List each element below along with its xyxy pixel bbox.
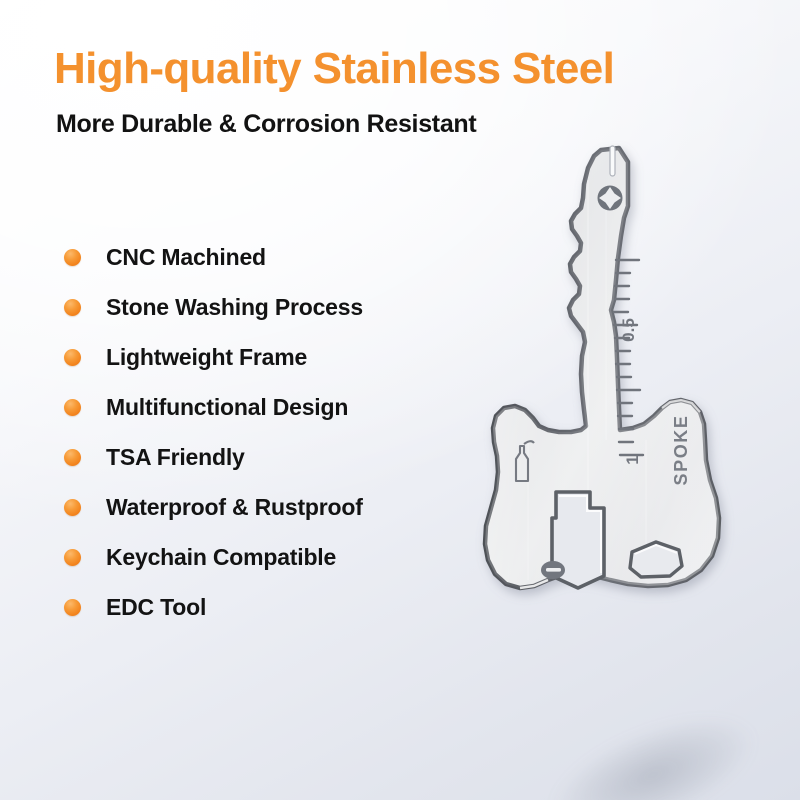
product-image: 0.5 1 SPOKE xyxy=(438,140,778,780)
spoke-label: SPOKE xyxy=(671,414,691,485)
list-item: Waterproof & Rustproof xyxy=(56,482,476,532)
feature-label: TSA Friendly xyxy=(106,444,245,471)
feature-label: Multifunctional Design xyxy=(106,394,348,421)
list-item: Lightweight Frame xyxy=(56,332,476,382)
list-item: Multifunctional Design xyxy=(56,382,476,432)
bullet-dot-icon xyxy=(64,549,81,566)
ruler-label-half: 0.5 xyxy=(619,318,638,342)
list-item: EDC Tool xyxy=(56,582,476,632)
page-subtitle: More Durable & Corrosion Resistant xyxy=(56,110,476,139)
ruler-label-one: 1 xyxy=(623,455,642,464)
flathead-screwdriver-icon xyxy=(541,561,565,579)
keychain-slot xyxy=(610,146,615,176)
list-item: CNC Machined xyxy=(56,232,476,282)
bullet-dot-icon xyxy=(64,349,81,366)
feature-list: CNC Machined Stone Washing Process Light… xyxy=(56,232,476,632)
feature-label: CNC Machined xyxy=(106,244,266,271)
page-title: High-quality Stainless Steel xyxy=(54,46,784,92)
feature-label: Stone Washing Process xyxy=(106,294,363,321)
bullet-dot-icon xyxy=(64,599,81,616)
bullet-dot-icon xyxy=(64,499,81,516)
feature-label: Lightweight Frame xyxy=(106,344,307,371)
infographic-page: High-quality Stainless Steel More Durabl… xyxy=(0,0,800,800)
list-item: TSA Friendly xyxy=(56,432,476,482)
bullet-dot-icon xyxy=(64,449,81,466)
bullet-dot-icon xyxy=(64,399,81,416)
feature-label: Keychain Compatible xyxy=(106,544,336,571)
feature-label: Waterproof & Rustproof xyxy=(106,494,363,521)
phillips-screwdriver-icon xyxy=(598,186,623,211)
multitool-illustration: 0.5 1 SPOKE xyxy=(438,140,778,780)
list-item: Keychain Compatible xyxy=(56,532,476,582)
bullet-dot-icon xyxy=(64,249,81,266)
bullet-dot-icon xyxy=(64,299,81,316)
feature-label: EDC Tool xyxy=(106,594,206,621)
list-item: Stone Washing Process xyxy=(56,282,476,332)
